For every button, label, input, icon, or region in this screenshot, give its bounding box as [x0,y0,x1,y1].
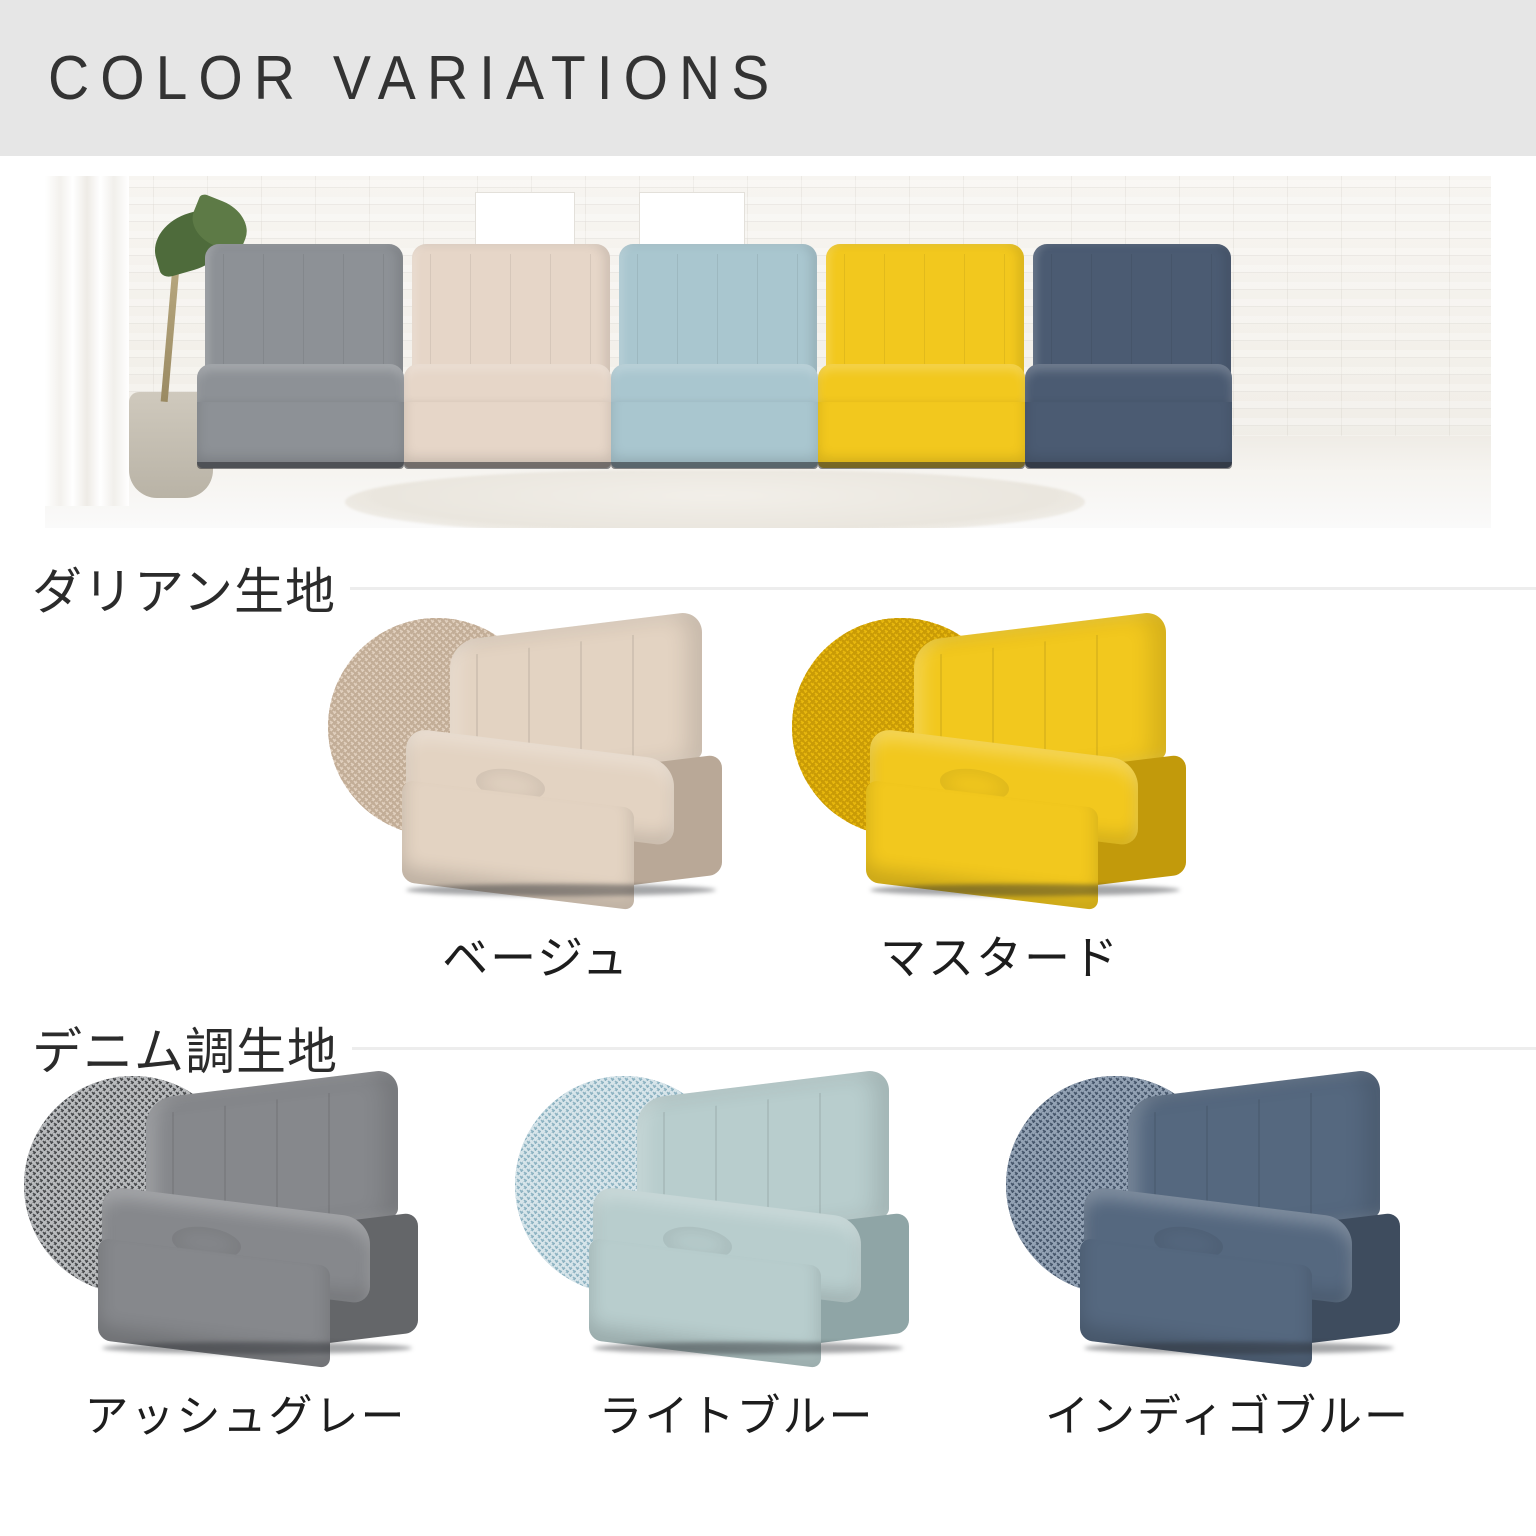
sofa-floor-shadow [870,884,1180,896]
sofa-floor-shadow [593,1342,903,1354]
section-heading-rule [350,587,1536,590]
hero-sofa-shadow [818,462,1025,469]
hero-sofa-unit [1025,244,1232,466]
hero-sofa-unit [197,244,404,466]
hero-sofa-back [826,244,1024,376]
sofa-floor-shadow [102,1342,412,1354]
color-label: ベージュ [304,922,768,988]
hero-sofa-unit [404,244,611,466]
section-heading-rule [352,1047,1536,1050]
product-figure [982,1058,1473,1376]
hero-sofa-shadow [611,462,818,469]
product-figure [491,1058,982,1376]
hero-curtain [45,176,129,506]
hero-sofa-back [619,244,817,376]
product-figure [768,600,1232,918]
page-header: COLOR VARIATIONS [0,0,1536,156]
color-label: アッシュグレー [0,1380,491,1444]
product-tile[interactable]: ベージュ [304,600,768,1000]
product-tile[interactable]: アッシュグレー [0,1058,491,1458]
hero-sofa-base [404,402,611,468]
color-label: ライトブルー [491,1380,982,1444]
product-tile[interactable]: インディゴブルー [982,1058,1473,1458]
sofa-illustration [396,626,748,908]
product-figure [304,600,768,918]
product-row-denim: アッシュグレー ライトブルー [0,1058,1536,1458]
hero-image [45,176,1491,528]
hero-sofa-lineup [197,244,1232,466]
hero-sofa-unit [818,244,1025,466]
hero-sofa-back [1033,244,1231,376]
sofa-illustration [860,626,1212,908]
hero-sofa-base [818,402,1025,468]
product-tile[interactable]: マスタード [768,600,1232,1000]
product-figure [0,1058,491,1376]
sofa-illustration [583,1084,935,1366]
hero-sofa-back [412,244,610,376]
sofa-floor-shadow [406,884,716,896]
hero-rug [345,470,1085,528]
hero-sofa-base [1025,402,1232,468]
hero-sofa-base [611,402,818,468]
hero-sofa-base [197,402,404,468]
wall-frame-right [639,192,745,252]
page-title: COLOR VARIATIONS [48,43,780,114]
hero-sofa-shadow [404,462,611,469]
product-row-dalian: ベージュ マスタード [0,600,1536,1000]
product-tile[interactable]: ライトブルー [491,1058,982,1458]
sofa-illustration [1074,1084,1426,1366]
hero-sofa-shadow [1025,462,1232,469]
color-label: インディゴブルー [982,1380,1473,1444]
color-label: マスタード [768,922,1232,988]
hero-sofa-shadow [197,462,404,469]
hero-sofa-unit [611,244,818,466]
hero-sofa-back [205,244,403,376]
sofa-floor-shadow [1084,1342,1394,1354]
sofa-illustration [92,1084,444,1366]
